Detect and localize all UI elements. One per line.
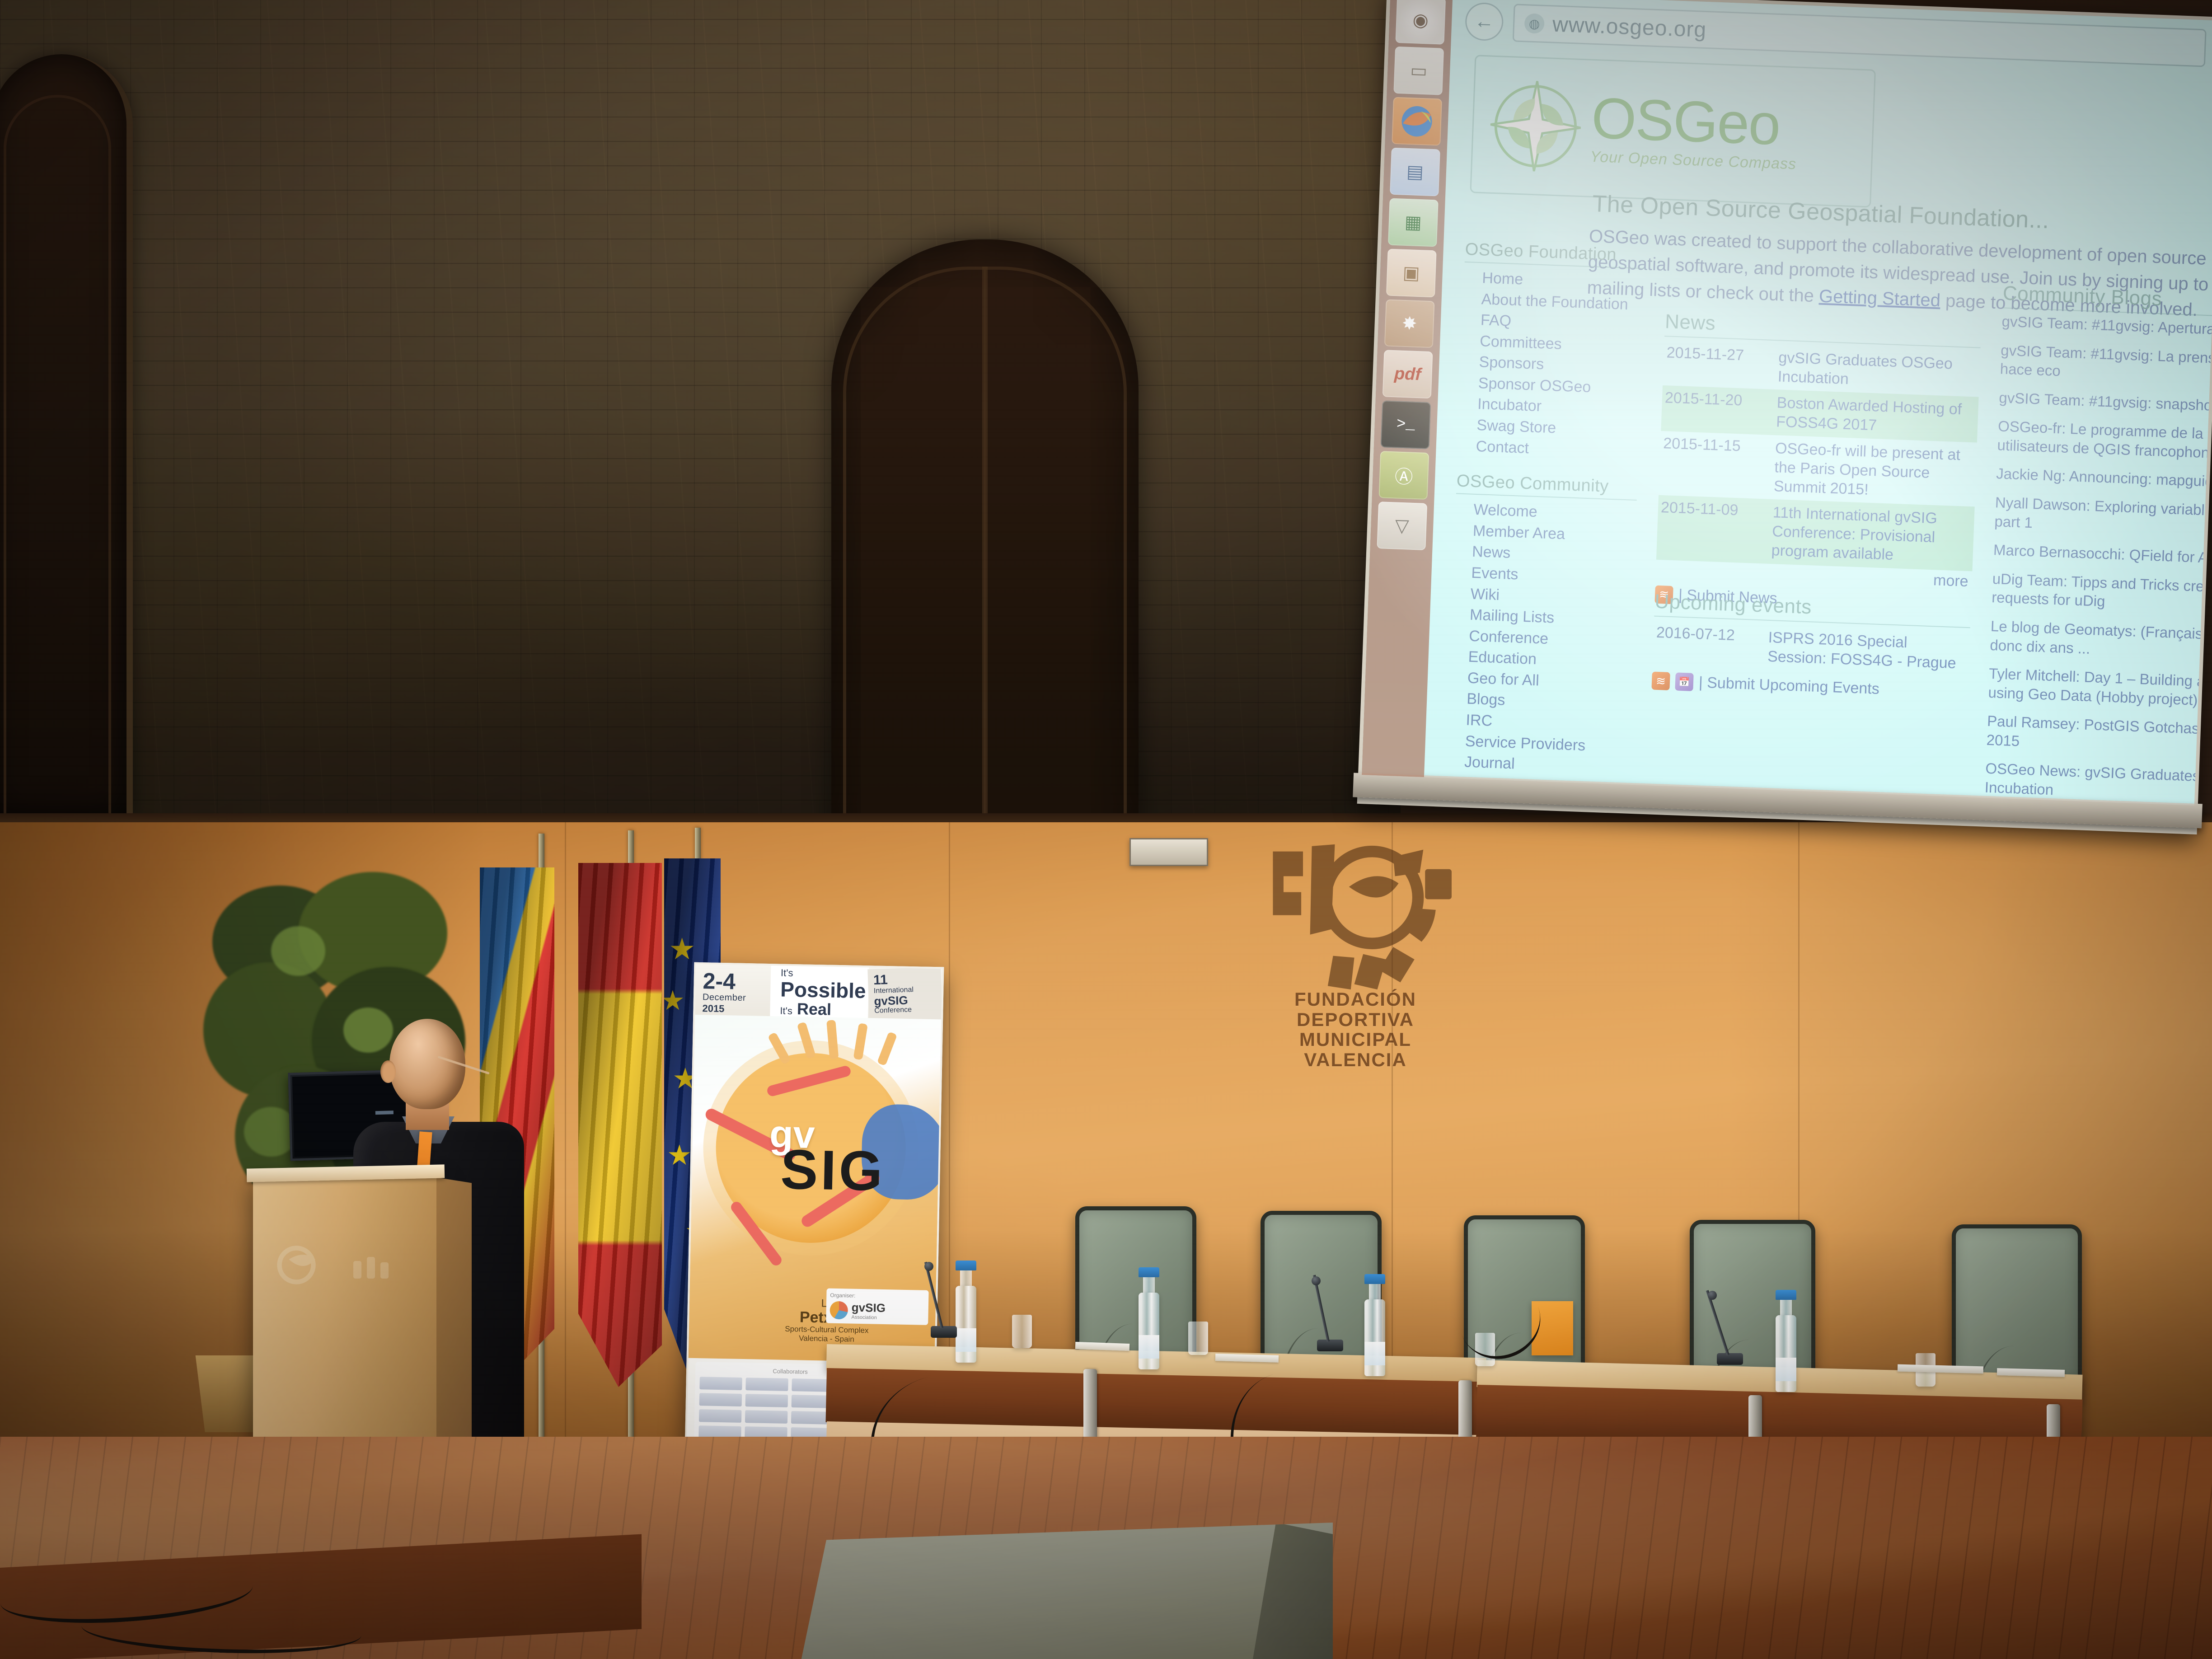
blog-item[interactable]: Paul Ramsey: PostGIS Gotchas @ PgConf 20…: [1986, 712, 2212, 760]
blog-item[interactable]: gvSIG Team: #11gvsig: Apertura: [2001, 312, 2212, 342]
getting-started-link[interactable]: Getting Started: [1818, 286, 1940, 310]
nav-heading-community: OSGeo Community: [1456, 472, 1638, 501]
blog-item[interactable]: gvSIG Team: #11gvsig: La prensa generali…: [2000, 341, 2212, 389]
trash-icon[interactable]: ▽: [1377, 501, 1427, 550]
blog-item[interactable]: Jackie Ng: Announcing: mapguide-rest 1.0: [1996, 464, 2212, 495]
banner-edition: 11 International gvSIG Conference: [867, 967, 942, 1022]
back-arrow-icon[interactable]: ←: [1465, 2, 1504, 41]
news-date: 2015-11-15: [1663, 435, 1767, 456]
system-settings-icon[interactable]: ✸: [1384, 299, 1435, 348]
banner-slogan: It's Possible It's Real: [770, 965, 869, 1021]
libreoffice-impress-icon[interactable]: ▣: [1386, 248, 1437, 297]
blog-item[interactable]: Le blog de Geomatys: (Français) Geomatys…: [1990, 617, 2212, 665]
wall-logo-caption: FUNDACIÓN DEPORTIVA MUNICIPAL VALENCIA: [1265, 989, 1446, 1070]
upcoming-events-section: Upcoming events 2016-07-12 ISPRS 2016 Sp…: [1651, 590, 1971, 702]
terminal-icon[interactable]: >_: [1381, 400, 1431, 449]
rss-icon[interactable]: ≋: [1651, 672, 1670, 690]
stage-floor-monitor-speaker: [800, 1523, 1333, 1659]
news-title[interactable]: gvSIG Graduates OSGeo Incubation: [1777, 348, 1978, 393]
banner-logo-sig: SIG: [780, 1138, 886, 1204]
osgeo-compass-icon: [1482, 72, 1589, 180]
osgeo-wordmark: OSGeo: [1590, 91, 1799, 153]
news-row[interactable]: 2015-11-15 OSGeo-fr will be present at t…: [1659, 431, 1977, 507]
banner-header: 2-4 December 2015 It's Possible It's Rea…: [695, 964, 942, 1022]
wall-sign-plate: [1129, 838, 1208, 866]
blog-item[interactable]: gvSIG Team: #11gvsig: snapshots: [1999, 388, 2212, 418]
url-text: www.osgeo.org: [1552, 12, 1707, 42]
water-bottle[interactable]: [1364, 1274, 1385, 1376]
news-title[interactable]: OSGeo-fr will be present at the Paris Op…: [1773, 439, 1974, 503]
presenter-head: [389, 1019, 465, 1109]
libreoffice-calc-icon[interactable]: ▦: [1388, 198, 1439, 247]
drinking-glass[interactable]: [1012, 1315, 1032, 1348]
projection-screen: ◉ ▭ ▤ ▦ ▣ ✸ pdf ▥ >_ Ⓐ ▽ ←: [1357, 0, 2212, 834]
lectern-logo-ghost-secondary: [348, 1251, 402, 1289]
ubuntu-dash-icon[interactable]: ◉: [1395, 0, 1446, 45]
event-date: 2016-07-12: [1656, 624, 1760, 645]
site-sidebar-nav: OSGeo Foundation Home About the Foundati…: [1441, 240, 1646, 806]
conference-photo-scene: FUNDACIÓN DEPORTIVA MUNICIPAL VALENCIA ◉…: [0, 0, 2212, 1659]
arched-doorway-left: [0, 54, 133, 813]
firefox-window: ← ◍ www.osgeo.org: [1424, 0, 2212, 806]
drinking-glass[interactable]: [1188, 1322, 1208, 1355]
gvsig-association-logo-icon: [829, 1301, 848, 1319]
projected-desktop: ◉ ▭ ▤ ▦ ▣ ✸ pdf ▥ >_ Ⓐ ▽ ←: [1362, 0, 2212, 806]
site-favicon: ◍: [1524, 13, 1545, 34]
event-title[interactable]: ISPRS 2016 Special Session: FOSS4G - Pra…: [1767, 628, 1967, 673]
water-bottle[interactable]: [956, 1261, 976, 1363]
flag-spain: [578, 863, 662, 1387]
blog-item[interactable]: Marco Bernasocchi: QField for Android 5: [1993, 540, 2212, 571]
news-row[interactable]: 2015-11-09 11th International gvSIG Conf…: [1656, 495, 1975, 571]
door-panel: [4, 95, 111, 813]
news-date: 2015-11-20: [1664, 389, 1769, 410]
pdf-viewer-icon[interactable]: pdf: [1382, 350, 1433, 398]
libreoffice-writer-icon[interactable]: ▤: [1390, 148, 1440, 197]
water-bottle[interactable]: [1776, 1290, 1796, 1392]
gooseneck-microphone[interactable]: [1317, 1340, 1343, 1351]
gooseneck-microphone[interactable]: [1717, 1353, 1743, 1365]
files-icon[interactable]: ▭: [1393, 47, 1444, 95]
gooseneck-microphone[interactable]: [931, 1326, 957, 1338]
news-section: News 2015-11-27 gvSIG Graduates OSGeo In…: [1654, 310, 1981, 615]
banner-artwork: gv SIG La Petxina Sports-Cultural Comple…: [689, 1015, 941, 1363]
historic-stone-wall: [0, 0, 1401, 849]
submit-events-link[interactable]: | Submit Upcoming Events: [1698, 674, 1879, 698]
firefox-icon[interactable]: [1392, 97, 1442, 146]
news-date: 2015-11-27: [1666, 344, 1771, 365]
events-feed-line: ≋ 📅 | Submit Upcoming Events: [1651, 672, 1968, 702]
blog-item[interactable]: uDig Team: Tipps and Tricks creating pul…: [1992, 569, 2212, 618]
osgeo-webpage: OSGeo Your Open Source Compass The Open …: [1436, 50, 2212, 805]
osgeo-logo-block: OSGeo Your Open Source Compass: [1470, 55, 1876, 207]
news-title[interactable]: 11th International gvSIG Conference: Pro…: [1771, 503, 1972, 567]
software-center-icon[interactable]: Ⓐ: [1379, 451, 1429, 500]
banner-organiser: Organiser: gvSIGAssociation: [826, 1289, 928, 1325]
blog-item[interactable]: Tyler Mitchell: Day 1 – Building a 3D Ga…: [1988, 664, 2212, 713]
news-title[interactable]: Boston Awarded Hosting of FOSS4G 2017: [1776, 394, 1976, 439]
event-row[interactable]: 2016-07-12 ISPRS 2016 Special Session: F…: [1652, 620, 1970, 677]
banner-date: 2-4 December 2015: [695, 964, 771, 1019]
community-blogs-section: Community Blogs gvSIG Team: #11gvsig: Ap…: [1984, 282, 2212, 805]
news-date: 2015-11-09: [1660, 499, 1765, 520]
water-bottle[interactable]: [1139, 1267, 1159, 1369]
wall-shading: [0, 0, 1401, 849]
calendar-icon[interactable]: 📅: [1675, 673, 1693, 691]
blog-item[interactable]: Nyall Dawson: Exploring variables in QGI…: [1994, 493, 2212, 542]
blog-item[interactable]: OSGeo-fr: Le programme de la rencontre d…: [1997, 417, 2212, 466]
